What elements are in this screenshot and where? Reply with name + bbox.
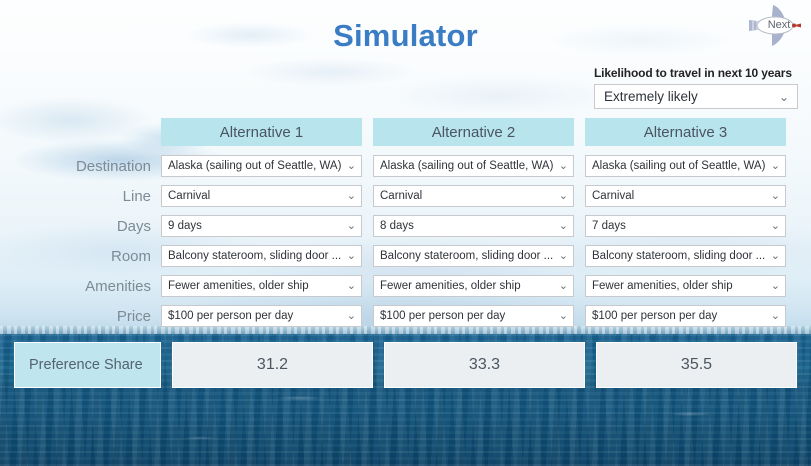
row-label-destination: Destination xyxy=(14,158,161,175)
chevron-down-icon: ⌄ xyxy=(771,311,780,322)
preference-share-value-alt3: 35.5 xyxy=(596,342,797,388)
simulator-page: Simulator Next Likelihood to travel in n… xyxy=(0,0,811,466)
destination-select-alt1[interactable]: Alaska (sailing out of Seattle, WA) ⌄ xyxy=(161,155,362,177)
alternatives-table: Alternative 1 Alternative 2 Alternative … xyxy=(14,118,797,331)
airplane-icon xyxy=(739,2,811,48)
price-value-alt1: $100 per person per day xyxy=(168,310,343,322)
page-title: Simulator xyxy=(0,18,811,54)
destination-select-alt3[interactable]: Alaska (sailing out of Seattle, WA) ⌄ xyxy=(585,155,786,177)
cell-room-alt2: Balcony stateroom, sliding door ... ⌄ xyxy=(373,245,574,267)
likelihood-select[interactable]: Extremely likely ⌄ xyxy=(594,84,798,109)
destination-select-alt2[interactable]: Alaska (sailing out of Seattle, WA) ⌄ xyxy=(373,155,574,177)
chevron-down-icon: ⌄ xyxy=(771,161,780,172)
table-row: Room Balcony stateroom, sliding door ...… xyxy=(14,241,797,271)
room-value-alt1: Balcony stateroom, sliding door ... xyxy=(168,250,343,262)
amenities-select-alt1[interactable]: Fewer amenities, older ship ⌄ xyxy=(161,275,362,297)
cell-price-alt1: $100 per person per day ⌄ xyxy=(161,305,362,327)
days-select-alt3[interactable]: 7 days ⌄ xyxy=(585,215,786,237)
chevron-down-icon: ⌄ xyxy=(347,191,356,202)
chevron-down-icon: ⌄ xyxy=(771,221,780,232)
cell-amenities-alt2: Fewer amenities, older ship ⌄ xyxy=(373,275,574,297)
column-header-label: Alternative 3 xyxy=(585,118,786,146)
chevron-down-icon: ⌄ xyxy=(347,311,356,322)
column-header-label: Alternative 1 xyxy=(161,118,362,146)
row-label-days: Days xyxy=(14,218,161,235)
row-label-price: Price xyxy=(14,308,161,325)
price-select-alt2[interactable]: $100 per person per day ⌄ xyxy=(373,305,574,327)
price-value-alt2: $100 per person per day xyxy=(380,310,555,322)
chevron-down-icon: ⌄ xyxy=(347,281,356,292)
cell-amenities-alt1: Fewer amenities, older ship ⌄ xyxy=(161,275,362,297)
price-select-alt3[interactable]: $100 per person per day ⌄ xyxy=(585,305,786,327)
amenities-value-alt1: Fewer amenities, older ship xyxy=(168,280,343,292)
chevron-down-icon: ⌄ xyxy=(347,161,356,172)
amenities-select-alt3[interactable]: Fewer amenities, older ship ⌄ xyxy=(585,275,786,297)
cell-days-alt1: 9 days ⌄ xyxy=(161,215,362,237)
days-select-alt2[interactable]: 8 days ⌄ xyxy=(373,215,574,237)
column-header-alternative-2: Alternative 2 xyxy=(373,118,574,146)
room-select-alt2[interactable]: Balcony stateroom, sliding door ... ⌄ xyxy=(373,245,574,267)
days-value-alt2: 8 days xyxy=(380,220,555,232)
cell-room-alt1: Balcony stateroom, sliding door ... ⌄ xyxy=(161,245,362,267)
row-label-line: Line xyxy=(14,188,161,205)
row-label-amenities: Amenities xyxy=(14,278,161,295)
chevron-down-icon: ⌄ xyxy=(559,161,568,172)
price-select-alt1[interactable]: $100 per person per day ⌄ xyxy=(161,305,362,327)
line-select-alt1[interactable]: Carnival ⌄ xyxy=(161,185,362,207)
cell-price-alt2: $100 per person per day ⌄ xyxy=(373,305,574,327)
cell-destination-alt2: Alaska (sailing out of Seattle, WA) ⌄ xyxy=(373,155,574,177)
line-select-alt2[interactable]: Carnival ⌄ xyxy=(373,185,574,207)
line-value-alt1: Carnival xyxy=(168,190,343,202)
table-row: Line Carnival ⌄ Carnival ⌄ Carnival ⌄ xyxy=(14,181,797,211)
cell-price-alt3: $100 per person per day ⌄ xyxy=(585,305,786,327)
cell-days-alt2: 8 days ⌄ xyxy=(373,215,574,237)
destination-value-alt3: Alaska (sailing out of Seattle, WA) xyxy=(592,160,767,172)
cell-destination-alt1: Alaska (sailing out of Seattle, WA) ⌄ xyxy=(161,155,362,177)
amenities-value-alt3: Fewer amenities, older ship xyxy=(592,280,767,292)
line-value-alt3: Carnival xyxy=(592,190,767,202)
likelihood-selected-value: Extremely likely xyxy=(604,89,775,104)
room-select-alt1[interactable]: Balcony stateroom, sliding door ... ⌄ xyxy=(161,245,362,267)
table-row: Amenities Fewer amenities, older ship ⌄ … xyxy=(14,271,797,301)
price-value-alt3: $100 per person per day xyxy=(592,310,767,322)
chevron-down-icon: ⌄ xyxy=(559,191,568,202)
row-label-room: Room xyxy=(14,248,161,265)
table-row: Price $100 per person per day ⌄ $100 per… xyxy=(14,301,797,331)
chevron-down-icon: ⌄ xyxy=(559,281,568,292)
preference-share-row: Preference Share 31.2 33.3 35.5 xyxy=(14,342,797,388)
days-value-alt3: 7 days xyxy=(592,220,767,232)
days-value-alt1: 9 days xyxy=(168,220,343,232)
cell-line-alt1: Carnival ⌄ xyxy=(161,185,362,207)
cell-days-alt3: 7 days ⌄ xyxy=(585,215,786,237)
destination-value-alt1: Alaska (sailing out of Seattle, WA) xyxy=(168,160,343,172)
chevron-down-icon: ⌄ xyxy=(559,251,568,262)
amenities-select-alt2[interactable]: Fewer amenities, older ship ⌄ xyxy=(373,275,574,297)
chevron-down-icon: ⌄ xyxy=(771,191,780,202)
column-header-label: Alternative 2 xyxy=(373,118,574,146)
likelihood-label: Likelihood to travel in next 10 years xyxy=(594,66,798,80)
preference-share-label: Preference Share xyxy=(14,342,161,388)
line-select-alt3[interactable]: Carnival ⌄ xyxy=(585,185,786,207)
cell-destination-alt3: Alaska (sailing out of Seattle, WA) ⌄ xyxy=(585,155,786,177)
room-value-alt3: Balcony stateroom, sliding door ... xyxy=(592,250,767,262)
preference-share-value-alt2: 33.3 xyxy=(384,342,585,388)
column-header-alternative-3: Alternative 3 xyxy=(585,118,786,146)
likelihood-question: Likelihood to travel in next 10 years Ex… xyxy=(594,66,798,109)
days-select-alt1[interactable]: 9 days ⌄ xyxy=(161,215,362,237)
room-select-alt3[interactable]: Balcony stateroom, sliding door ... ⌄ xyxy=(585,245,786,267)
chevron-down-icon: ⌄ xyxy=(771,281,780,292)
cell-line-alt2: Carnival ⌄ xyxy=(373,185,574,207)
table-header-row: Alternative 1 Alternative 2 Alternative … xyxy=(14,118,797,146)
line-value-alt2: Carnival xyxy=(380,190,555,202)
destination-value-alt2: Alaska (sailing out of Seattle, WA) xyxy=(380,160,555,172)
amenities-value-alt2: Fewer amenities, older ship xyxy=(380,280,555,292)
cell-room-alt3: Balcony stateroom, sliding door ... ⌄ xyxy=(585,245,786,267)
table-row: Destination Alaska (sailing out of Seatt… xyxy=(14,151,797,181)
chevron-down-icon: ⌄ xyxy=(779,91,789,103)
column-header-alternative-1: Alternative 1 xyxy=(161,118,362,146)
cell-line-alt3: Carnival ⌄ xyxy=(585,185,786,207)
preference-share-value-alt1: 31.2 xyxy=(172,342,373,388)
table-row: Days 9 days ⌄ 8 days ⌄ 7 days ⌄ xyxy=(14,211,797,241)
chevron-down-icon: ⌄ xyxy=(559,221,568,232)
chevron-down-icon: ⌄ xyxy=(347,221,356,232)
chevron-down-icon: ⌄ xyxy=(347,251,356,262)
next-button[interactable]: Next xyxy=(739,2,811,48)
cell-amenities-alt3: Fewer amenities, older ship ⌄ xyxy=(585,275,786,297)
chevron-down-icon: ⌄ xyxy=(559,311,568,322)
room-value-alt2: Balcony stateroom, sliding door ... xyxy=(380,250,555,262)
chevron-down-icon: ⌄ xyxy=(771,251,780,262)
